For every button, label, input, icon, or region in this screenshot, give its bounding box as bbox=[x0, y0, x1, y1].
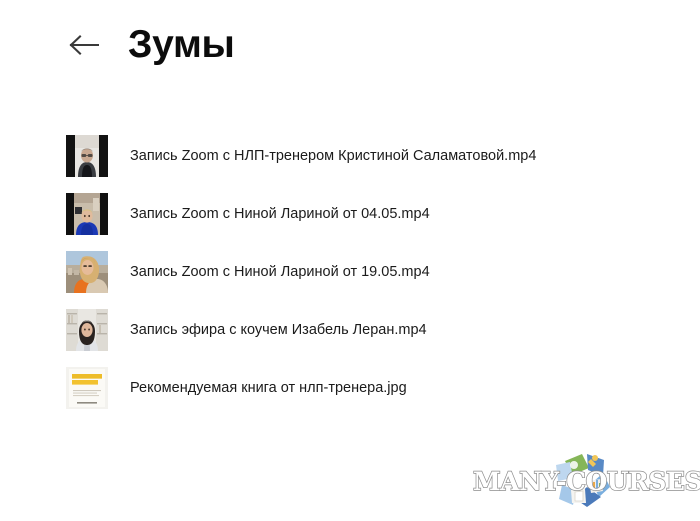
file-name: Запись эфира с коучем Изабель Леран.mp4 bbox=[130, 321, 427, 340]
page-title: Зумы bbox=[128, 23, 235, 67]
file-name: Рекомендуемая книга от нлп-тренера.jpg bbox=[130, 379, 407, 398]
globe-tiles-logo bbox=[543, 445, 621, 520]
video-thumbnail-person-with-glasses bbox=[66, 135, 108, 177]
video-thumbnail-woman-blue-sweater bbox=[66, 193, 108, 235]
back-button[interactable] bbox=[62, 23, 106, 67]
watermark: MANY-COURSES.NET bbox=[470, 443, 695, 515]
file-name: Запись Zoom с Ниной Лариной от 04.05.mp4 bbox=[130, 205, 430, 224]
list-item[interactable]: Запись Zoom с НЛП-тренером Кристиной Сал… bbox=[0, 135, 700, 177]
watermark-text: MANY-COURSES.NET bbox=[473, 469, 693, 495]
file-name: Запись Zoom с НЛП-тренером Кристиной Сал… bbox=[130, 147, 536, 166]
list-item[interactable]: Запись эфира с коучем Изабель Леран.mp4 bbox=[0, 309, 700, 351]
list-item[interactable]: Запись Zoom с Ниной Лариной от 19.05.mp4 bbox=[0, 251, 700, 293]
video-thumbnail-woman-orange-outdoors bbox=[66, 251, 108, 293]
file-name: Запись Zoom с Ниной Лариной от 19.05.mp4 bbox=[130, 263, 430, 282]
arrow-left-icon bbox=[69, 33, 99, 57]
video-thumbnail-woman-bookshelf bbox=[66, 309, 108, 351]
page-header: Зумы bbox=[0, 0, 700, 60]
list-item[interactable]: Запись Zoom с Ниной Лариной от 04.05.mp4 bbox=[0, 193, 700, 235]
file-list: Запись Zoom с НЛП-тренером Кристиной Сал… bbox=[0, 135, 700, 425]
image-thumbnail-book-cover-yellow bbox=[66, 367, 108, 409]
list-item[interactable]: Рекомендуемая книга от нлп-тренера.jpg bbox=[0, 367, 700, 409]
